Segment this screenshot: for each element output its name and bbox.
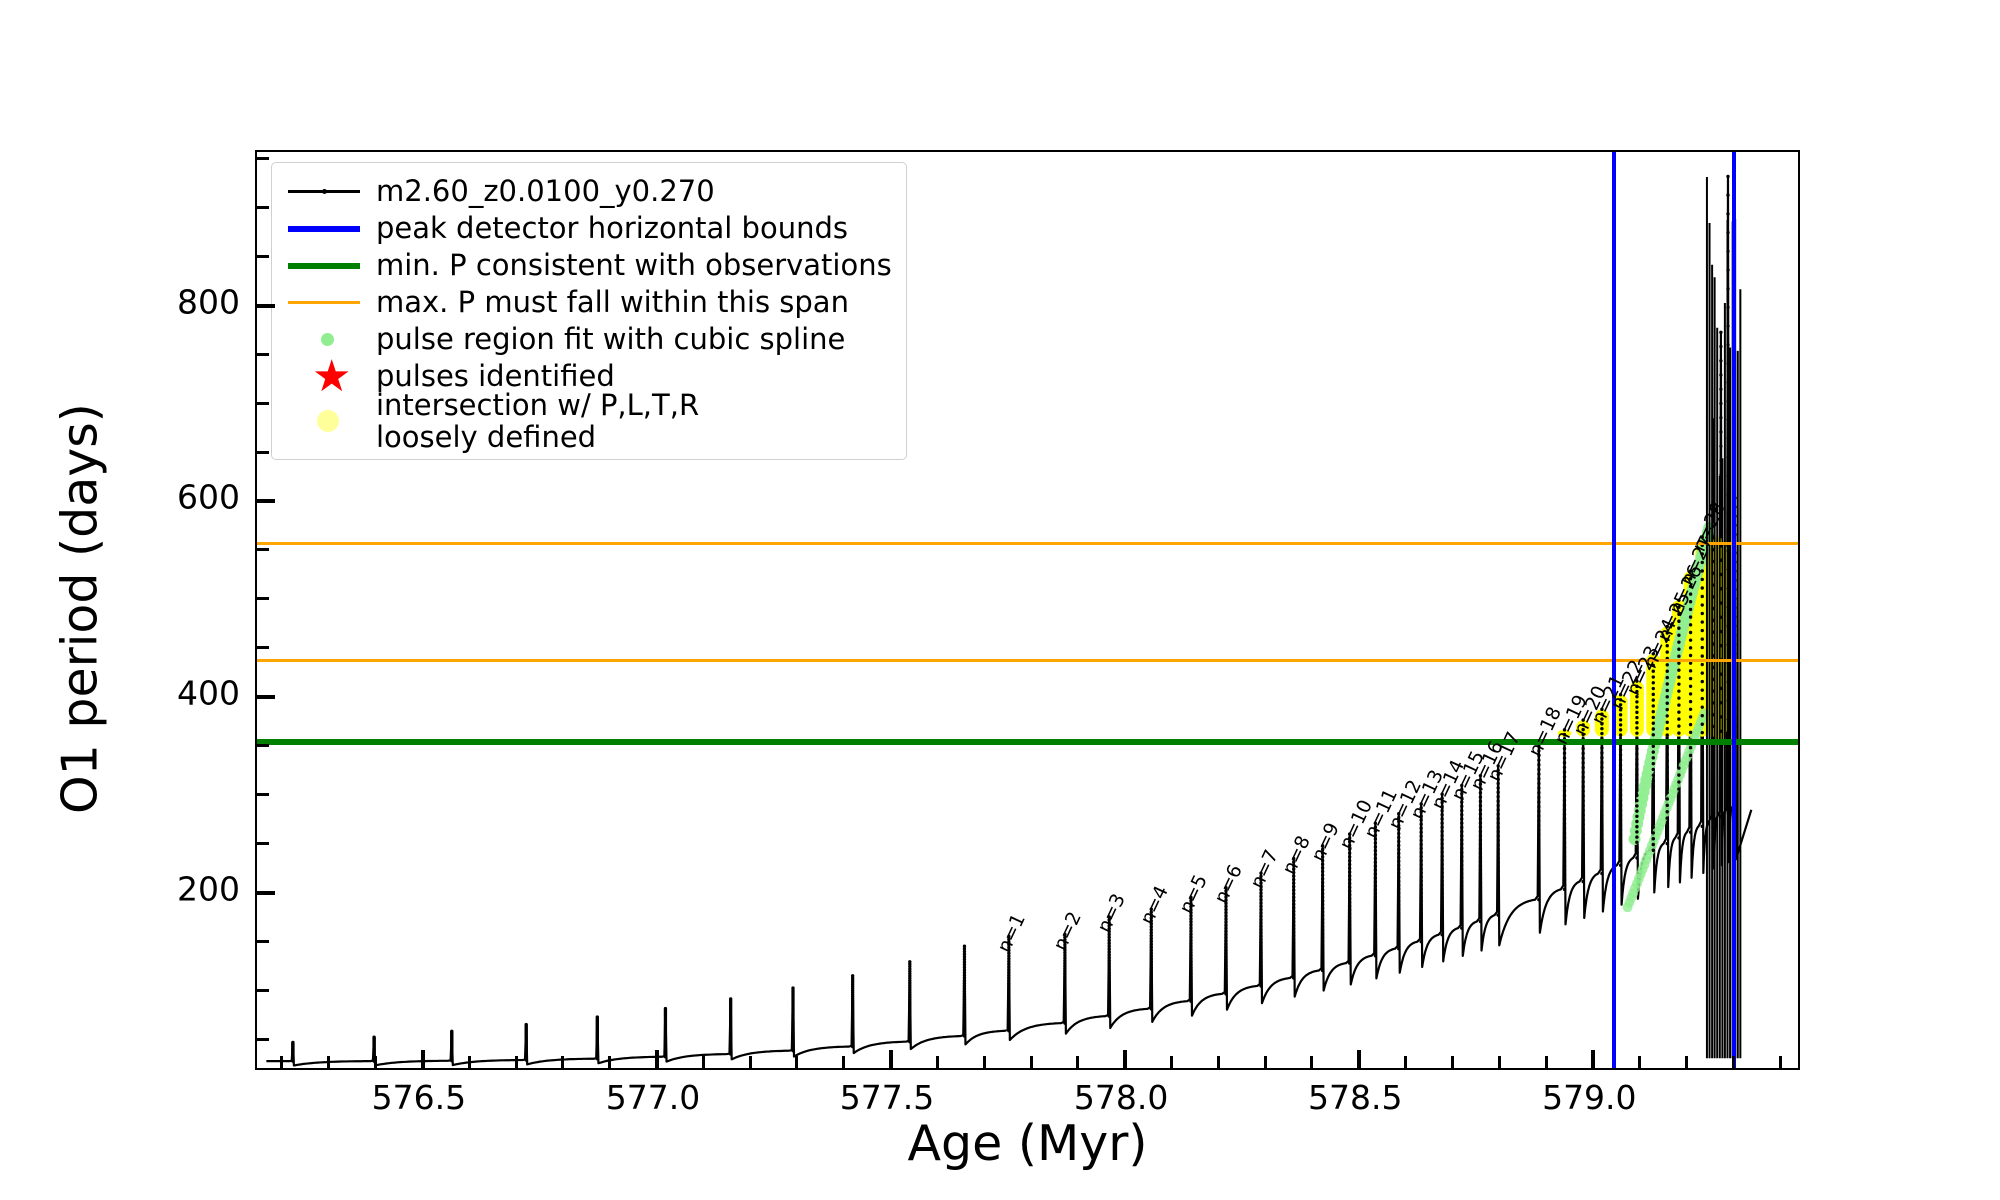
y-tick-label: 400	[177, 674, 240, 713]
x-tick-mark	[1591, 1050, 1595, 1069]
x-tick-mark	[842, 1056, 845, 1069]
y-tick-mark	[256, 304, 275, 308]
x-tick-mark	[655, 1050, 659, 1069]
y-tick-mark	[256, 402, 269, 405]
legend-label-0: m2.60_z0.0100_y0.270	[376, 176, 715, 207]
legend-entry-6[interactable]: intersection w/ P,L,T,Rloosely defined	[284, 395, 892, 447]
legend-entry-3[interactable]: max. P must fall within this span	[284, 284, 892, 321]
y-tick-mark	[256, 940, 269, 943]
y-tick-mark	[256, 499, 275, 503]
y-tick-label: 800	[177, 282, 240, 321]
x-tick-mark	[327, 1056, 330, 1069]
x-tick-mark	[1404, 1056, 1407, 1069]
legend-key-thick-line-icon	[284, 214, 364, 244]
x-tick-mark	[1076, 1056, 1079, 1069]
x-tick-mark	[1498, 1056, 1501, 1069]
legend-key-yellow-dot-icon	[284, 406, 364, 436]
x-tick-label: 577.5	[840, 1078, 934, 1117]
x-tick-mark	[936, 1056, 939, 1069]
x-tick-mark	[1732, 1056, 1735, 1069]
x-tick-mark	[1123, 1050, 1127, 1069]
x-tick-mark	[1217, 1056, 1220, 1069]
plot-clip-region: n=1n=2n=3n=4n=5n=6n=7n=8n=9n=10n=11n=12n…	[257, 152, 1798, 1068]
y-tick-mark	[256, 744, 269, 747]
peak-detector-bound-1	[1732, 152, 1736, 1068]
y-tick-mark	[256, 1038, 269, 1041]
y-tick-mark	[256, 597, 269, 600]
x-tick-mark	[421, 1050, 425, 1069]
peak-detector-bound-0	[1612, 152, 1616, 1068]
legend-key-line-icon	[284, 177, 364, 207]
legend-label-2: min. P consistent with observations	[376, 250, 892, 281]
y-tick-mark	[256, 157, 269, 160]
x-tick-mark	[1779, 1056, 1782, 1069]
legend-entry-1[interactable]: peak detector horizontal bounds	[284, 210, 892, 247]
x-tick-label: 578.0	[1074, 1078, 1168, 1117]
legend-entry-4[interactable]: pulse region fit with cubic spline	[284, 321, 892, 358]
x-tick-mark	[702, 1056, 705, 1069]
legend-label-6: intersection w/ P,L,T,Rloosely defined	[376, 389, 699, 454]
legend-entry-2[interactable]: min. P consistent with observations	[284, 247, 892, 284]
x-tick-mark	[983, 1056, 986, 1069]
x-tick-mark	[280, 1056, 283, 1069]
x-tick-label: 579.0	[1542, 1078, 1636, 1117]
y-tick-mark	[256, 206, 269, 209]
y-tick-mark	[256, 842, 269, 845]
x-tick-mark	[468, 1056, 471, 1069]
y-tick-labels: 200400600800	[110, 150, 240, 1070]
legend-label-1: peak detector horizontal bounds	[376, 213, 848, 244]
plot-axes: n=1n=2n=3n=4n=5n=6n=7n=8n=9n=10n=11n=12n…	[255, 150, 1800, 1070]
x-tick-mark	[1451, 1056, 1454, 1069]
y-tick-label: 200	[177, 869, 240, 908]
x-tick-mark	[515, 1056, 518, 1069]
x-tick-mark	[608, 1056, 611, 1069]
x-tick-mark	[1685, 1056, 1688, 1069]
legend-box: m2.60_z0.0100_y0.270peak detector horizo…	[271, 162, 907, 460]
x-tick-mark	[1545, 1056, 1548, 1069]
x-tick-mark	[1357, 1050, 1361, 1069]
y-tick-mark	[256, 255, 269, 258]
x-tick-mark	[1310, 1056, 1313, 1069]
x-tick-mark	[749, 1056, 752, 1069]
y-axis-label-wrapper: O1 period (days)	[50, 150, 110, 1070]
y-tick-mark	[256, 793, 269, 796]
x-tick-mark	[1170, 1056, 1173, 1069]
y-tick-label: 600	[177, 478, 240, 517]
x-tick-label: 578.5	[1308, 1078, 1402, 1117]
figure-canvas: O1 period (days) 200400600800	[0, 0, 2000, 1200]
legend-entry-0[interactable]: m2.60_z0.0100_y0.270	[284, 173, 892, 210]
x-tick-label: 576.5	[372, 1078, 466, 1117]
y-tick-mark	[256, 451, 269, 454]
legend-key-star-icon: ★	[284, 362, 364, 392]
x-tick-mark	[561, 1056, 564, 1069]
legend-label-4: pulse region fit with cubic spline	[376, 324, 845, 355]
x-tick-mark	[1030, 1056, 1033, 1069]
x-tick-mark	[795, 1056, 798, 1069]
x-tick-label: 577.0	[606, 1078, 700, 1117]
legend-label-3: max. P must fall within this span	[376, 287, 849, 318]
x-tick-mark	[1638, 1056, 1641, 1069]
y-tick-mark	[256, 548, 269, 551]
y-tick-mark	[256, 695, 275, 699]
legend-label-6-line2: loosely defined	[376, 421, 699, 453]
y-tick-mark	[256, 891, 275, 895]
x-tick-mark	[374, 1056, 377, 1069]
y-tick-mark	[256, 646, 269, 649]
legend-key-thin-line-icon	[284, 288, 364, 318]
y-axis-label: O1 period (days)	[52, 249, 109, 969]
legend-key-green-dot-icon	[284, 325, 364, 355]
x-axis-label: Age (Myr)	[255, 1115, 1800, 1172]
max-p-span-line-0	[257, 659, 1798, 662]
max-p-span-line-1	[257, 542, 1798, 545]
x-tick-mark	[889, 1050, 893, 1069]
y-tick-mark	[256, 989, 269, 992]
legend-key-thick-line-icon	[284, 251, 364, 281]
x-tick-mark	[1264, 1056, 1267, 1069]
y-tick-mark	[256, 353, 269, 356]
